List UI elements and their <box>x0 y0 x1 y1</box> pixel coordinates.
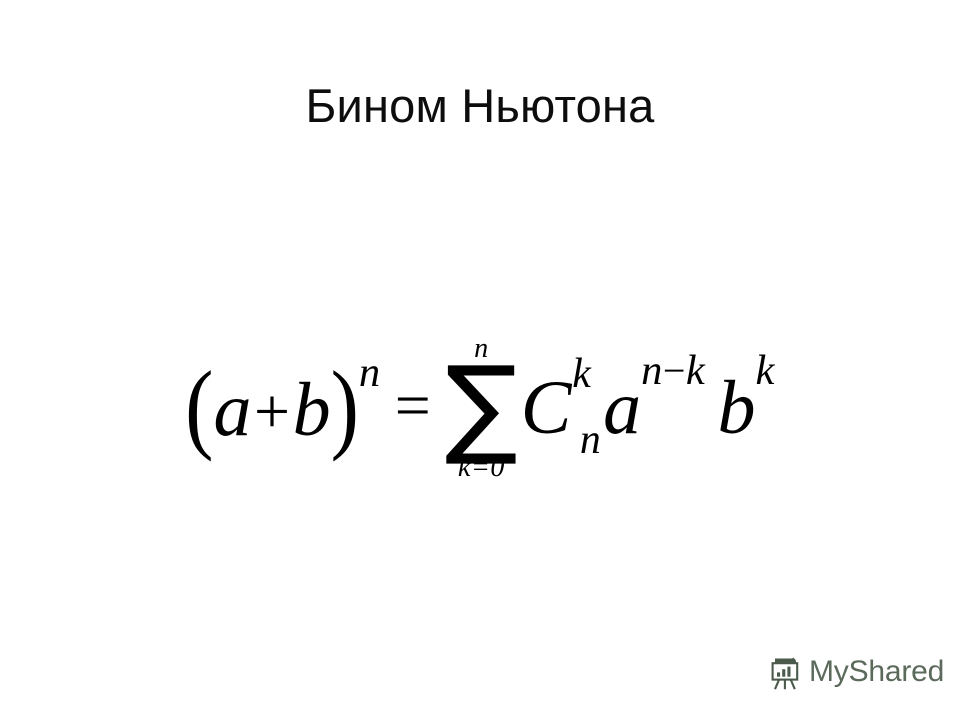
myshared-brand-text: MyShared <box>809 657 944 687</box>
myshared-watermark: MyShared <box>768 654 944 690</box>
binomial-coefficient: Ckn <box>521 365 593 450</box>
exponent-n: n <box>359 349 381 396</box>
binomial-subscript-n: n <box>580 419 601 462</box>
summation-operator: n ∑ k=0 <box>445 335 518 481</box>
term-b-power: bk <box>717 370 774 446</box>
equals-operator: = <box>395 373 431 437</box>
term-a-power: an−k <box>603 370 705 446</box>
slide-canvas: Бином Ньютона (a+b)n = n ∑ k=0 Ckn an−k … <box>0 0 960 720</box>
variable-a: a <box>213 368 251 452</box>
flipchart-bar-chart-icon <box>768 654 802 690</box>
page-title: Бином Ньютона <box>0 82 960 129</box>
binomial-base-c: C <box>521 370 572 446</box>
open-paren: ( <box>185 357 213 457</box>
binomial-theorem-formula: (a+b)n = n ∑ k=0 Ckn an−k bk <box>185 334 775 480</box>
binomial-indices: kn <box>572 365 593 450</box>
formula-container: (a+b)n = n ∑ k=0 Ckn an−k bk <box>0 300 960 515</box>
formula-left-side: (a+b)n <box>185 365 381 450</box>
sum-lower-limit: k=0 <box>458 454 505 482</box>
variable-b: b <box>293 368 331 452</box>
exponent-minus-sign: − <box>663 348 686 393</box>
term-b-base: b <box>717 366 755 450</box>
exponent-n-part: n <box>641 347 663 394</box>
exponent-k-part: k <box>686 347 705 394</box>
term-a-exponent: n−k <box>641 347 705 394</box>
binomial-superscript-k: k <box>572 353 591 396</box>
plus-operator: + <box>254 379 290 443</box>
close-paren: ) <box>331 357 359 457</box>
sigma-icon: ∑ <box>445 361 518 454</box>
term-b-exponent: k <box>755 347 774 394</box>
term-a-base: a <box>603 366 641 450</box>
